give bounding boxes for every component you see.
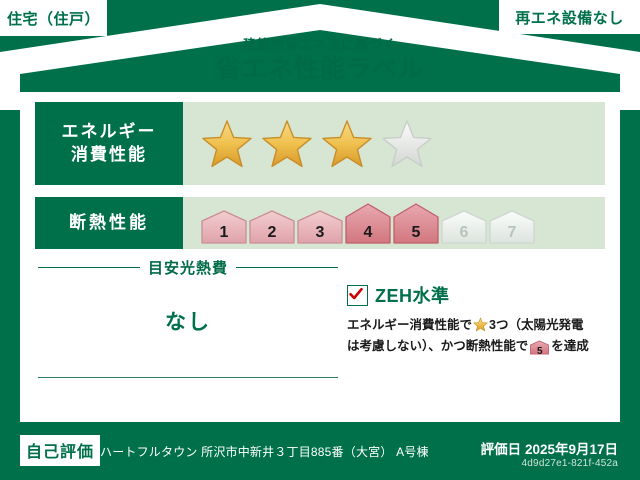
self-evaluation-badge: 自己評価 [20,435,100,466]
utility-cost-bottom-rule [38,377,338,378]
header-subtitle: 建築物省エネ法に基づく [0,38,640,51]
label-id: 4d9d27e1-821f-452a [522,458,618,469]
label-footer: 自己評価 ハートフルタウン 所沢市中新井３丁目885番（大宮） A号棟 評価日 … [0,422,640,480]
insulation-performance-row: 断熱性能 1 2 [35,197,605,249]
insulation-house-2: 2 [249,210,295,244]
insulation-house-5: 5 [393,203,439,244]
tag-building-type: 住宅（住戸） [0,0,107,36]
energy-performance-row: エネルギー 消費性能 [35,102,605,185]
insulation-house-1: 1 [201,210,247,244]
heading-rule-right [236,267,338,268]
label-card: エネルギー 消費性能 [20,92,620,422]
insulation-house-inline: 5 [530,340,549,362]
insulation-house-6: 6 [441,210,487,244]
energy-performance-label: エネルギー 消費性能 [35,102,183,185]
zeh-desc-star-count: 3つ（太陽光発電 [489,318,583,332]
star-icon-filled-3 [321,118,373,170]
zeh-block: ZEH水準 エネルギー消費性能で3つ（太陽光発電は考慮しない）、かつ断熱性能で5… [347,282,609,361]
insulation-house-4: 4 [345,203,391,244]
energy-star-rating [183,102,605,185]
insulation-level-scale: 1 2 3 [201,203,535,244]
insulation-performance-label: 断熱性能 [35,197,183,249]
energy-performance-label: 住宅（住戸） 再エネ設備なし 建築物省エネ法に基づく 省エネ性能ラベル エネルギ… [0,0,640,480]
star-icon-empty-4 [381,118,433,170]
tag-renewable-energy: 再エネ設備なし [499,0,640,34]
zeh-desc-part3: を達成 [551,339,589,353]
zeh-title: ZEH水準 [375,282,450,308]
utility-cost-block: 目安光熱費 なし [38,257,338,336]
utility-cost-heading: 目安光熱費 [38,257,338,278]
utility-cost-heading-text: 目安光熱費 [148,257,228,278]
energy-label-line2: 消費性能 [71,144,147,166]
energy-label-line1: エネルギー [62,121,157,143]
zeh-desc-part2: は考慮しない）、かつ断熱性能で [347,339,528,353]
property-address: ハートフルタウン 所沢市中新井３丁目885番（大宮） A号棟 [100,443,429,460]
zeh-desc-part1: エネルギー消費性能で [347,318,472,332]
heading-rule-left [38,267,140,268]
insulation-house-3: 3 [297,210,343,244]
header-title: 省エネ性能ラベル [0,56,640,84]
check-icon [348,286,364,302]
zeh-title-row: ZEH水準 [347,282,609,308]
evaluation-date: 評価日 2025年9月17日 [481,438,618,458]
utility-cost-value: なし [38,306,338,336]
evaluation-date-value: 2025年9月17日 [525,442,618,457]
star-icon-filled-2 [261,118,313,170]
insulation-house-7: 7 [489,210,535,244]
zeh-description: エネルギー消費性能で3つ（太陽光発電は考慮しない）、かつ断熱性能で5を達成 [347,315,609,361]
label-header: 建築物省エネ法に基づく 省エネ性能ラベル [0,38,640,84]
star-icon-filled-1 [201,118,253,170]
evaluation-date-label: 評価日 [481,442,522,457]
star-icon-inline [473,317,488,332]
zeh-checkbox[interactable] [347,285,368,306]
